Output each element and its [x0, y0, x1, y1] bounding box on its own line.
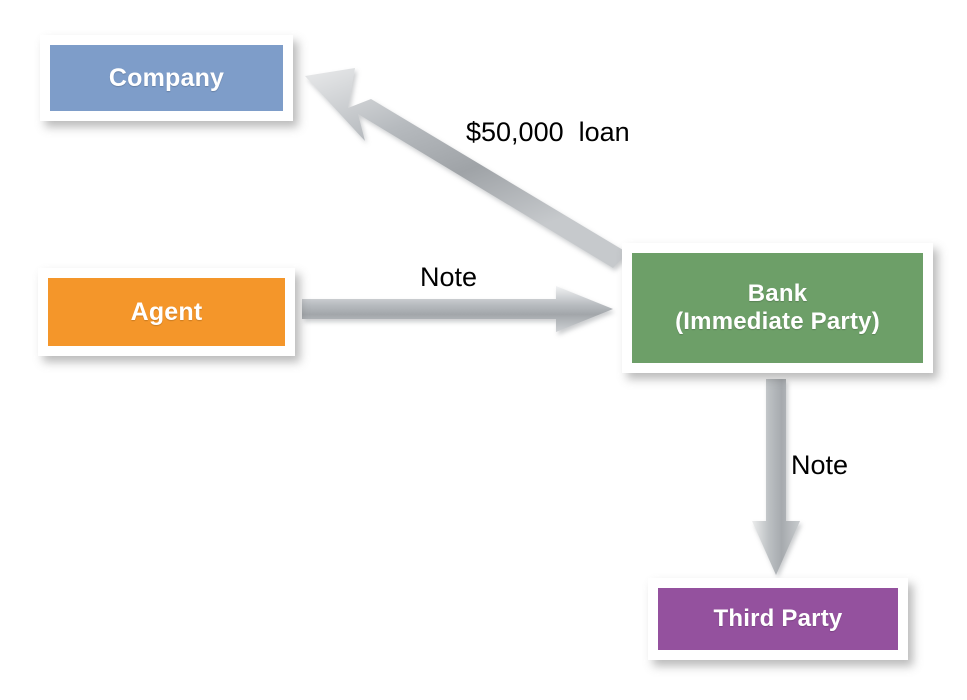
node-company-label: Company — [109, 64, 224, 93]
node-bank[interactable]: Bank (Immediate Party) — [622, 243, 933, 373]
arrow-bank-to-company — [305, 68, 628, 268]
node-third-party-fill: Third Party — [658, 588, 898, 650]
node-company-fill: Company — [50, 45, 283, 111]
edge-label-note-agent-bank: Note — [420, 262, 477, 293]
node-agent-label: Agent — [131, 298, 203, 327]
node-bank-label: Bank (Immediate Party) — [675, 280, 880, 336]
node-third-party[interactable]: Third Party — [648, 578, 908, 660]
node-agent[interactable]: Agent — [38, 268, 295, 356]
diagram-canvas: Company Agent Bank (Immediate Party) Thi… — [0, 0, 967, 700]
edge-label-loan: $50,000 loan — [466, 117, 630, 148]
node-company[interactable]: Company — [40, 35, 293, 121]
edge-label-note-bank-third-party: Note — [791, 450, 848, 481]
node-third-party-label: Third Party — [714, 605, 843, 633]
node-agent-fill: Agent — [48, 278, 285, 346]
node-bank-fill: Bank (Immediate Party) — [632, 253, 923, 363]
